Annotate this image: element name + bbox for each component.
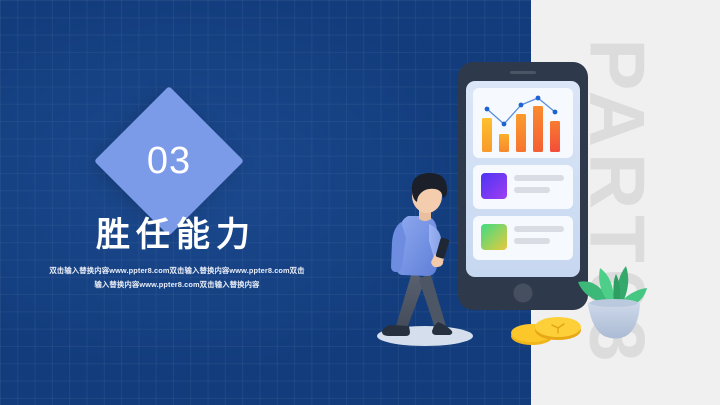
chart-bar-1 bbox=[482, 118, 492, 152]
list-card-2-thumbnail bbox=[481, 224, 507, 250]
phone-home-button bbox=[514, 284, 533, 303]
coin-front-top bbox=[535, 317, 581, 337]
chart-marker-4 bbox=[536, 96, 541, 101]
list-card-1-line-2 bbox=[514, 187, 550, 193]
person-back-shoe bbox=[382, 325, 410, 336]
section-number-badge: 03 bbox=[116, 108, 222, 214]
chart-bar-5 bbox=[550, 121, 560, 152]
chart-marker-1 bbox=[485, 107, 490, 112]
plant-pot-rim bbox=[590, 299, 638, 307]
smartphone-mockup bbox=[458, 62, 588, 310]
gold-coins-illustration bbox=[508, 306, 590, 354]
chart-marker-2 bbox=[502, 122, 507, 127]
list-card-1-line-1 bbox=[514, 175, 564, 181]
person-front-leg bbox=[419, 272, 446, 331]
phone-speaker bbox=[510, 71, 536, 74]
chart-marker-3 bbox=[519, 103, 524, 108]
list-card-2-line-2 bbox=[514, 238, 550, 244]
chart-bar-3 bbox=[516, 114, 526, 152]
body-text: 双击输入替换内容www.ppter8.com双击输入替换内容www.ppter8… bbox=[46, 264, 308, 291]
list-card-1-thumbnail bbox=[481, 173, 507, 199]
page-title: 胜任能力 bbox=[0, 217, 352, 254]
slide-root: PART03 03 胜任能力 双击输入替换内容www.ppter8.com双击输… bbox=[0, 0, 720, 405]
chart-marker-5 bbox=[553, 110, 558, 115]
section-number-text: 03 bbox=[116, 108, 222, 214]
list-card-2-line-1 bbox=[514, 226, 564, 232]
plant-pot bbox=[588, 302, 640, 339]
chart-bar-4 bbox=[533, 106, 543, 152]
chart-bar-2 bbox=[499, 134, 509, 152]
